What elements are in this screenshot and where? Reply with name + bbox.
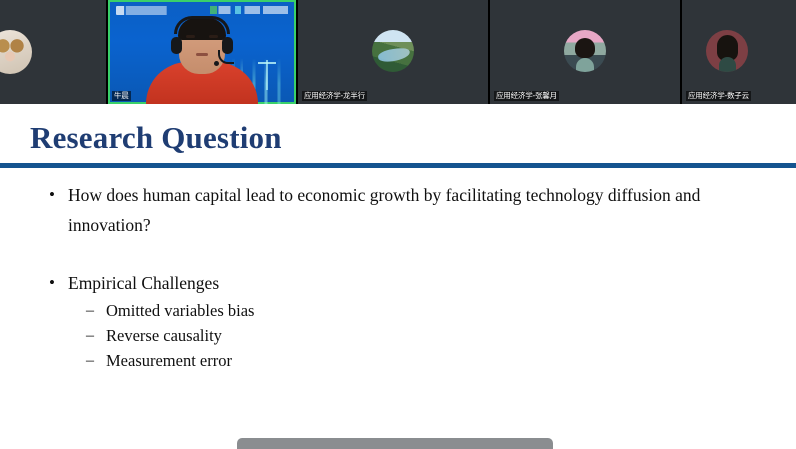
meeting-toolbar[interactable] [237,438,553,449]
avatar [564,30,606,72]
list-item-text: How does human capital lead to economic … [68,180,736,240]
title-divider [0,163,796,168]
university-logo-icon [116,6,172,15]
participant-tile-1[interactable] [0,0,108,104]
bullet-marker-icon: • [36,268,68,298]
page-title: Research Question [30,120,282,156]
dash-marker-icon: – [74,298,106,323]
participant-name-label: 应用经济学-张馨月 [494,91,559,101]
participant-filmstrip: 牛晨 应用经济学-龙半行 应用经济学-张馨月 应用经济学-数子云 [0,0,796,104]
zoom-screen-share-window: 牛晨 应用经济学-龙半行 应用经济学-张馨月 应用经济学-数子云 Researc… [0,0,796,449]
dash-marker-icon: – [74,348,106,373]
participant-name-label: 应用经济学-数子云 [686,91,751,101]
participant-name-label: 牛晨 [112,91,131,101]
list-item-text: Reverse causality [106,323,796,348]
participant-tile-3[interactable]: 应用经济学-龙半行 [298,0,490,104]
avatar [706,30,748,72]
list-item: • How does human capital lead to economi… [36,180,736,240]
avatar [0,30,32,74]
list-item-text: Empirical Challenges [68,268,736,298]
slide-body: • How does human capital lead to economi… [0,180,796,373]
spacer [0,240,796,268]
bullet-marker-icon: • [36,180,68,210]
list-item-text: Measurement error [106,348,796,373]
dash-marker-icon: – [74,323,106,348]
list-item-text: Omitted variables bias [106,298,796,323]
microphone-icon [214,61,219,66]
list-item: • Empirical Challenges [36,268,736,298]
participant-name-label: 应用经济学-龙半行 [302,91,367,101]
shared-slide: Research Question • How does human capit… [0,104,796,449]
participant-tile-4[interactable]: 应用经济学-张馨月 [490,0,682,104]
sponsor-logos-icon [210,6,288,14]
list-item: – Reverse causality [74,323,796,348]
avatar [372,30,414,72]
speaker-video-figure [143,32,261,104]
list-item: – Measurement error [74,348,796,373]
participant-tile-5[interactable]: 应用经济学-数子云 [682,0,796,104]
list-item: – Omitted variables bias [74,298,796,323]
headset-icon [174,16,230,34]
participant-tile-2-speaker[interactable]: 牛晨 [108,0,298,104]
